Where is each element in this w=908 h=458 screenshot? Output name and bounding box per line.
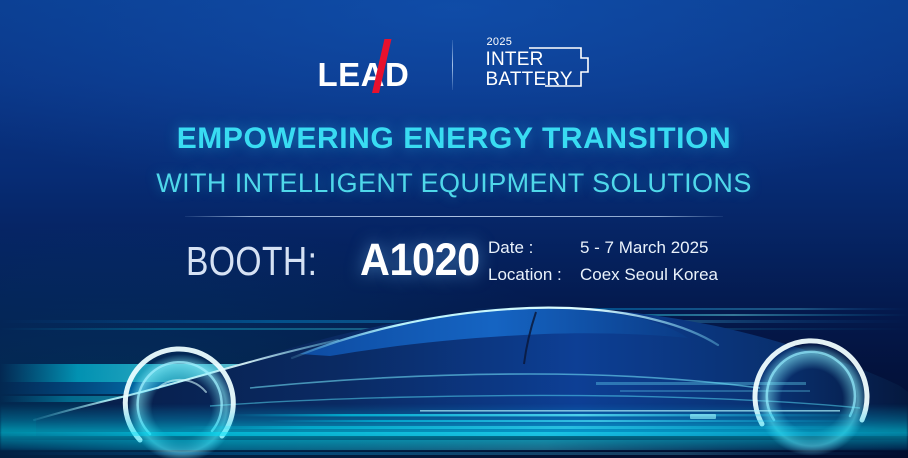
car-artwork (0, 268, 908, 458)
event-details: Date : 5 - 7 March 2025 Location : Coex … (488, 234, 718, 284)
info-row: BOOTH: A1020 Date : 5 - 7 March 2025 Loc… (186, 234, 758, 284)
location-value: Coex Seoul Korea (580, 265, 718, 285)
event-banner: LEAD 2025 INTER BATTERY EMPOWERING ENERG… (0, 0, 908, 458)
date-label: Date : (488, 238, 580, 258)
headline: EMPOWERING ENERGY TRANSITION (0, 124, 908, 154)
lead-logo: LEAD (318, 37, 422, 93)
date-value: 5 - 7 March 2025 (580, 238, 709, 258)
interbattery-year: 2025 (487, 37, 513, 48)
booth-label: BOOTH: (186, 241, 317, 282)
lead-wordmark: LEAD (318, 58, 410, 91)
interbattery-logo: 2025 INTER BATTERY (483, 36, 591, 94)
booth-number: A1020 (360, 237, 480, 282)
road-glow (0, 404, 908, 450)
interbattery-line1: INTER (486, 50, 544, 69)
detail-row-date: Date : 5 - 7 March 2025 (488, 238, 718, 258)
logo-divider (452, 40, 453, 90)
detail-row-location: Location : Coex Seoul Korea (488, 265, 718, 285)
booth-block: BOOTH: A1020 (186, 237, 488, 282)
interbattery-line2: BATTERY (486, 70, 573, 89)
subheadline: WITH INTELLIGENT EQUIPMENT SOLUTIONS (0, 170, 908, 197)
divider-rule (185, 216, 723, 217)
logo-row: LEAD 2025 INTER BATTERY (0, 36, 908, 94)
location-label: Location : (488, 265, 580, 285)
